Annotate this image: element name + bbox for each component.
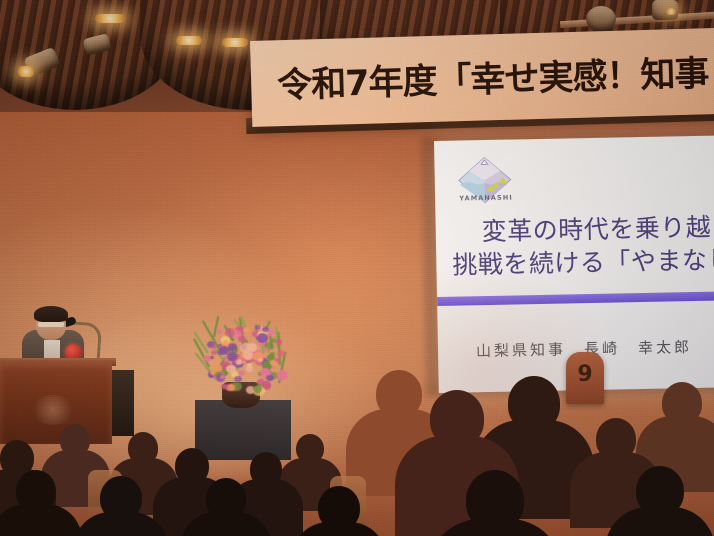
slide-accent-bar bbox=[437, 291, 714, 306]
flower-blossom bbox=[277, 370, 288, 380]
speaker-glasses bbox=[38, 322, 64, 327]
flower-blossom bbox=[238, 336, 246, 343]
flower-blossom bbox=[226, 365, 236, 373]
spotlight-lens-3 bbox=[176, 36, 202, 45]
spotlight-lens-7 bbox=[666, 8, 676, 15]
logo-wordmark: YAMANASHI bbox=[449, 193, 523, 202]
event-banner: 令和7年度「幸せ実感！知事とふれ bbox=[250, 28, 714, 127]
conference-hall-photo: 令和7年度「幸せ実感！知事とふれ YAMANASHI 変革の時代を乗り越え 挑戦… bbox=[0, 0, 714, 536]
flower-blossom bbox=[234, 376, 241, 382]
slide-title-line-1: 変革の時代を乗り越え bbox=[443, 211, 714, 249]
flower-blossom bbox=[266, 375, 274, 382]
flower-blossom bbox=[221, 384, 228, 390]
flower-blossom bbox=[225, 328, 235, 337]
flower-blossom bbox=[210, 370, 215, 375]
flower-table bbox=[195, 400, 291, 460]
banner-title-text: 令和7年度「幸せ実感！知事とふれ bbox=[276, 42, 714, 108]
speaker-hair bbox=[34, 306, 68, 322]
flower-blossom bbox=[263, 347, 269, 352]
flower-blossom bbox=[276, 339, 282, 345]
flower-blossom bbox=[253, 385, 262, 393]
flower-blossom bbox=[217, 350, 223, 355]
flower-blossom bbox=[220, 375, 225, 379]
spotlight-housing-6 bbox=[586, 6, 616, 32]
flower-blossom bbox=[262, 327, 269, 333]
table-number-placard: 9 bbox=[566, 352, 604, 404]
flower-blossom bbox=[217, 329, 222, 334]
spotlight-lens-2 bbox=[95, 14, 125, 23]
flower-blossom bbox=[257, 333, 268, 342]
slide-title-line-2: 挑戦を続ける「やまなし bbox=[444, 244, 714, 282]
flower-blossom bbox=[270, 360, 276, 365]
spotlight-lens-4 bbox=[222, 38, 248, 47]
floral-arrangement bbox=[196, 312, 288, 390]
placard-number: 9 bbox=[566, 362, 604, 387]
flower-blossom bbox=[228, 343, 237, 351]
lectern-emblem bbox=[30, 395, 76, 425]
flower-blossom bbox=[236, 360, 241, 365]
slide-title: 変革の時代を乗り越え 挑戦を続ける「やまなし bbox=[443, 211, 714, 282]
flower-blossom bbox=[223, 340, 228, 345]
flower-blossom bbox=[255, 325, 261, 330]
spotlight-lens-1 bbox=[18, 66, 34, 77]
flower-blossom bbox=[243, 327, 250, 333]
flower-blossom bbox=[238, 370, 245, 376]
